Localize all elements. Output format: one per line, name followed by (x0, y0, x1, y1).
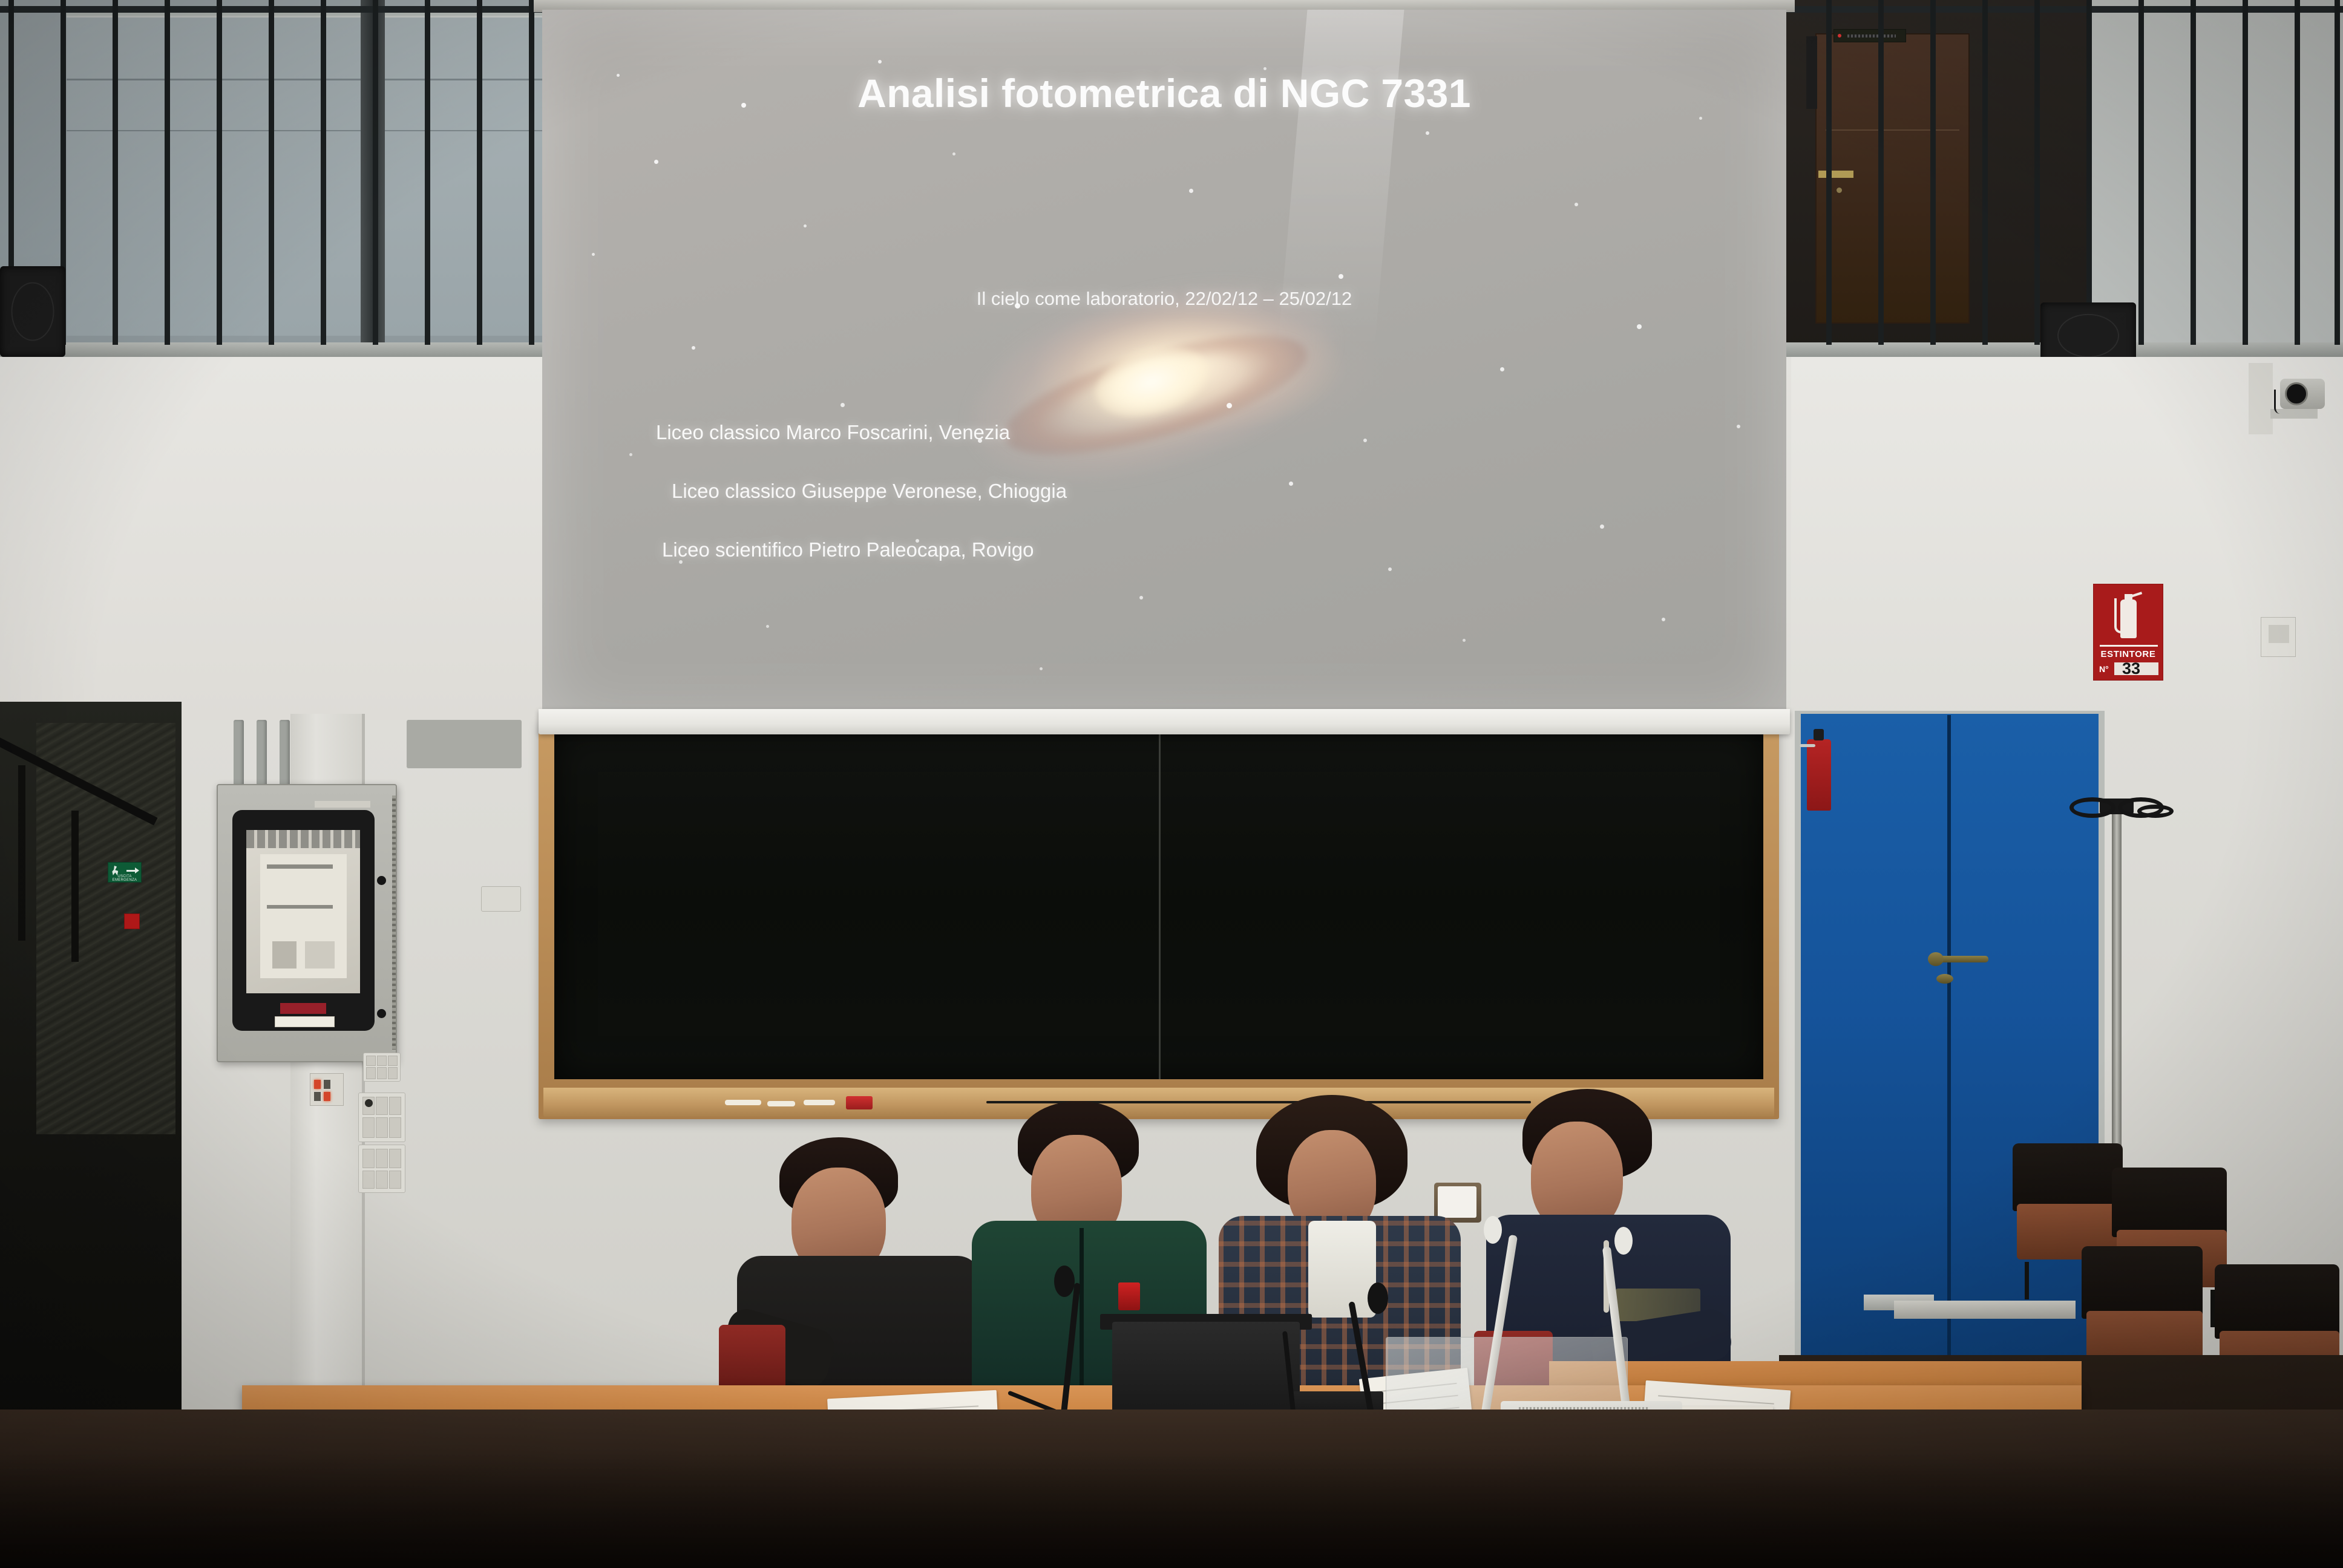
fire-alarm-call-point[interactable] (124, 913, 140, 929)
wall-intercom[interactable] (2261, 617, 2296, 657)
door-handle[interactable] (1936, 956, 1988, 962)
panel-tag (315, 801, 370, 808)
microphone-capsule (1484, 1216, 1502, 1244)
wall-left (0, 357, 545, 720)
wooden-cabinet (1815, 33, 1970, 324)
projection-screen: Analisi fotometrica di NGC 7331 Il cielo… (534, 0, 1795, 735)
panel-lid (232, 810, 375, 1031)
door-seam (1947, 715, 1951, 1376)
extinguisher-number: 33 (2122, 659, 2140, 678)
arrow-right-icon (126, 870, 137, 872)
coat-hook-left[interactable] (2069, 797, 2115, 818)
fire-extinguisher[interactable] (1807, 739, 1831, 811)
window-sill (1894, 1301, 2076, 1319)
emergency-exit-sign: USCITA EMERGENZA (108, 862, 142, 883)
light-switch-panel-mid[interactable] (358, 1093, 405, 1142)
lecture-hall-photo: USCITA EMERGENZA (0, 0, 2343, 1568)
mezzanine-left-panels (0, 0, 548, 358)
conduit-1 (234, 720, 244, 788)
slide-school-list: Liceo classico Marco Foscarini, Venezia … (656, 421, 1503, 597)
slide-school-1: Liceo classico Marco Foscarini, Venezia (656, 421, 1503, 444)
stone-wall (36, 723, 175, 1134)
conduit-2 (257, 720, 267, 788)
panel-latch-top[interactable] (377, 876, 386, 885)
wall-outlet[interactable] (481, 886, 521, 912)
extinguisher-number-prefix: N° (2099, 664, 2109, 674)
microphone-capsule (1368, 1282, 1388, 1314)
screen-bottom-bar (539, 709, 1790, 734)
wall-trunking (407, 720, 522, 768)
blackboard-eraser[interactable] (846, 1096, 873, 1109)
fire-extinguisher-icon (2114, 592, 2142, 639)
projected-slide: Analisi fotometrica di NGC 7331 Il cielo… (542, 10, 1786, 725)
speaker-left (0, 266, 65, 357)
floor (0, 1410, 2343, 1568)
handrail-post-1 (18, 765, 25, 941)
fire-extinguisher-sign: ESTINTORE N° 33 (2093, 584, 2163, 681)
warning-label (280, 1003, 326, 1014)
coat-hook-far-right[interactable] (2137, 805, 2174, 818)
exit-sign-label: USCITA EMERGENZA (108, 875, 141, 882)
rack-equipment (1833, 29, 1906, 42)
jacket-logo (1118, 1282, 1140, 1310)
camera-lens-icon (2285, 382, 2308, 405)
indicator-panel (310, 1073, 344, 1106)
light-switch-panel-top[interactable] (363, 1053, 401, 1082)
panel-document (260, 854, 347, 978)
slide-subtitle: Il cielo come laboratorio, 22/02/12 – 25… (542, 288, 1786, 310)
coat-rack[interactable] (2112, 799, 2122, 1149)
panel-window (246, 830, 360, 993)
electrical-panel[interactable] (217, 784, 397, 1062)
blackboard (539, 720, 1779, 1119)
slide-title: Analisi fotometrica di NGC 7331 (542, 70, 1786, 116)
microphone-capsule (1614, 1227, 1633, 1255)
cabinet-knob (1837, 188, 1842, 193)
info-label (275, 1016, 335, 1027)
handrail-post-2 (71, 811, 79, 962)
conduit-3 (280, 720, 290, 788)
extinguisher-sign-label: ESTINTORE (2094, 649, 2163, 659)
slide-school-2: Liceo classico Giuseppe Veronese, Chiogg… (672, 480, 1503, 503)
slide-school-3: Liceo scientifico Pietro Paleocapa, Rovi… (662, 538, 1503, 561)
camera-wall-plate (2249, 363, 2273, 434)
light-switch-panel-bottom[interactable] (358, 1145, 405, 1193)
panel-latch-bottom[interactable] (377, 1009, 386, 1018)
chalk-piece[interactable] (725, 1100, 761, 1105)
white-tshirt (1308, 1221, 1376, 1318)
chalk-piece[interactable] (767, 1101, 795, 1106)
door-lock[interactable] (1936, 974, 1953, 984)
running-person-icon (111, 866, 120, 875)
blackboard-panel-divider (1159, 728, 1161, 1079)
microphone-capsule (1054, 1266, 1075, 1297)
mezzanine-panel-face (67, 15, 548, 336)
circuit-breakers[interactable] (246, 830, 360, 848)
panel-chain (392, 795, 396, 1050)
chalk-piece[interactable] (804, 1100, 835, 1105)
security-camera (2270, 374, 2326, 421)
